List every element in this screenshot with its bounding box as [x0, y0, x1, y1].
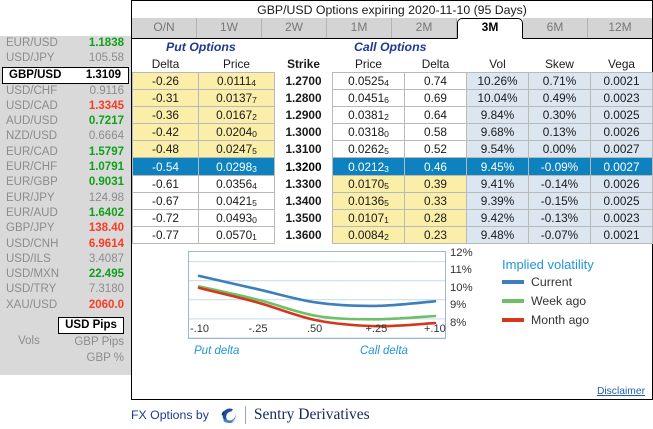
put-price: 0.02983 — [199, 158, 275, 175]
put-delta: -0.31 — [133, 90, 199, 107]
rate-pair: GBP/USD — [9, 68, 61, 83]
call-price-main: 0.0107 — [348, 211, 384, 225]
x-tick-3: +.25 — [366, 323, 388, 335]
rate-row-usd-chf[interactable]: USD/CHF0.9116 — [0, 84, 131, 99]
skew: -0.09% — [529, 158, 591, 175]
strike: 1.3500 — [275, 209, 333, 226]
rate-price: 2060.0 — [89, 298, 124, 313]
rate-row-aud-usd[interactable]: AUD/USD0.7217 — [0, 114, 131, 129]
call-price: 0.01071 — [333, 209, 405, 226]
call-price-main: 0.0136 — [348, 194, 384, 208]
tab-on[interactable]: O/N — [132, 18, 197, 38]
section-labels: Put Options Call Options — [132, 39, 652, 55]
call-price-sub: 1 — [384, 215, 389, 225]
vega: 0.0025 — [591, 192, 653, 209]
vol-unit-option-0[interactable]: USD Pips — [58, 317, 124, 334]
rate-pair: EUR/GBP — [6, 175, 58, 190]
rate-pair: USD/ILS — [6, 252, 51, 267]
tab-12m[interactable]: 12M — [588, 18, 652, 38]
rate-price: 124.98 — [89, 191, 124, 206]
skew: 0.30% — [529, 107, 591, 124]
call-price: 0.02123 — [333, 158, 405, 175]
strike: 1.3000 — [275, 124, 333, 141]
put-price-main: 0.0493 — [216, 211, 252, 225]
table-row[interactable]: -0.420.020401.30000.031800.589.68%0.13%0… — [133, 124, 653, 141]
call-delta: 0.33 — [405, 192, 467, 209]
call-price-main: 0.0525 — [348, 74, 384, 88]
rate-row-gbp-jpy[interactable]: GBP/JPY138.40 — [0, 221, 131, 236]
rate-row-eur-aud[interactable]: EUR/AUD1.6402 — [0, 206, 131, 221]
put-price-sub: 2 — [252, 112, 257, 122]
rate-price: 1.0791 — [89, 160, 124, 175]
col-header-delta-0: Delta — [133, 55, 199, 73]
fx-options-by-label: FX Options by — [131, 408, 209, 422]
skew: -0.14% — [529, 175, 591, 192]
call-delta: 0.74 — [405, 73, 467, 90]
legend-swatch-icon — [502, 280, 524, 283]
skew: 0.49% — [529, 90, 591, 107]
legend-item-1: Week ago — [502, 292, 594, 310]
call-price: 0.00842 — [333, 226, 405, 243]
legend-title: Implied volatility — [502, 257, 594, 272]
call-price-main: 0.0212 — [348, 160, 384, 174]
put-price: 0.02475 — [199, 141, 275, 158]
call-price: 0.04516 — [333, 90, 405, 107]
rate-pair: USD/CAD — [6, 99, 58, 114]
tab-3m[interactable]: 3M — [457, 18, 523, 39]
strike: 1.2700 — [275, 73, 333, 90]
call-price-main: 0.0451 — [348, 91, 384, 105]
rate-price: 6.9614 — [89, 237, 124, 252]
put-delta: -0.54 — [133, 158, 199, 175]
put-price-main: 0.0356 — [216, 177, 252, 191]
put-price: 0.01672 — [199, 107, 275, 124]
options-panel: GBP/USD Options expiring 2020-11-10 (95 … — [131, 0, 653, 400]
vol: 9.41% — [467, 175, 529, 192]
table-row[interactable]: -0.670.042151.34000.013650.339.39%-0.15%… — [133, 192, 653, 209]
put-price-sub: 7 — [252, 95, 257, 105]
rate-price: 0.6664 — [89, 129, 124, 144]
disclaimer-link[interactable]: Disclaimer — [597, 386, 645, 397]
tab-1w[interactable]: 1W — [197, 18, 262, 38]
call-options-label: Call Options — [354, 40, 426, 54]
vega: 0.0023 — [591, 209, 653, 226]
rate-row-eur-cad[interactable]: EUR/CAD1.5797 — [0, 145, 131, 160]
rate-row-usd-mxn[interactable]: USD/MXN22.495 — [0, 267, 131, 282]
call-delta: 0.39 — [405, 175, 467, 192]
put-price: 0.02040 — [199, 124, 275, 141]
call-price-sub: 5 — [384, 181, 389, 191]
put-delta: -0.48 — [133, 141, 199, 158]
vega: 0.0027 — [591, 141, 653, 158]
put-price-main: 0.0204 — [216, 125, 252, 139]
call-delta: 0.23 — [405, 226, 467, 243]
rate-price: 138.40 — [89, 221, 124, 236]
skew: 0.00% — [529, 141, 591, 158]
page-title: GBP/USD Options expiring 2020-11-10 (95 … — [132, 1, 652, 18]
rate-pair: USD/JPY — [6, 51, 55, 66]
rate-price: 7.3180 — [89, 282, 124, 297]
vol: 10.04% — [467, 90, 529, 107]
call-delta: 0.46 — [405, 158, 467, 175]
vol: 9.42% — [467, 209, 529, 226]
skew: 0.71% — [529, 73, 591, 90]
rate-row-usd-try[interactable]: USD/TRY7.3180 — [0, 282, 131, 297]
put-price-sub: 5 — [252, 198, 257, 208]
rate-price: 1.6402 — [89, 206, 124, 221]
rate-pair: USD/CHF — [6, 84, 57, 99]
vol: 9.54% — [467, 141, 529, 158]
x-tick-0: -.10 — [190, 323, 209, 335]
y-tick-3: 9% — [450, 297, 484, 314]
rate-pair: NZD/USD — [6, 129, 57, 144]
rate-row-usd-cad[interactable]: USD/CAD1.3345 — [0, 99, 131, 114]
skew: -0.13% — [529, 209, 591, 226]
chart-x-axis: -.10-.25.50+.25+.10 — [188, 323, 446, 337]
put-delta: -0.72 — [133, 209, 199, 226]
put-price-main: 0.0570 — [216, 228, 252, 242]
vega: 0.0026 — [591, 124, 653, 141]
put-price-sub: 3 — [252, 164, 257, 174]
col-header-delta-4: Delta — [405, 55, 467, 73]
put-price-sub: 0 — [252, 215, 257, 225]
strike: 1.3300 — [275, 175, 333, 192]
call-delta-axis-label: Call delta — [360, 345, 408, 357]
rate-pair: GBP/JPY — [6, 221, 55, 236]
table-body: -0.260.011141.27000.052540.7410.26%0.71%… — [133, 73, 653, 244]
put-price-main: 0.0167 — [216, 108, 252, 122]
put-price-main: 0.0111 — [217, 74, 251, 88]
tab-2m[interactable]: 2M — [392, 18, 457, 38]
skew: -0.15% — [529, 192, 591, 209]
call-price-sub: 4 — [384, 78, 389, 88]
call-price-sub: 6 — [384, 95, 389, 105]
legend-item-2: Month ago — [502, 311, 594, 329]
legend-rows: CurrentWeek agoMonth ago — [502, 273, 594, 329]
put-price: 0.05701 — [199, 226, 275, 243]
volatility-smile-chart: 12%11%10%9%8% -.10-.25.50+.25+.10 Put de… — [132, 251, 652, 371]
put-delta: -0.77 — [133, 226, 199, 243]
call-delta: 0.64 — [405, 107, 467, 124]
rate-pair: USD/TRY — [6, 282, 56, 297]
rate-row-gbp-usd[interactable]: GBP/USD1.3109 — [2, 67, 129, 84]
y-tick-0: 12% — [450, 245, 484, 262]
rates-sidebar: EUR/USD1.1838USD/JPY105.58GBP/USD1.3109U… — [0, 36, 131, 375]
put-price-main: 0.0421 — [216, 194, 252, 208]
call-price-main: 0.0318 — [348, 125, 384, 139]
vols-unit-selector: Vols USD PipsGBP PipsGBP % — [0, 317, 131, 366]
strike: 1.3400 — [275, 192, 333, 209]
table-row[interactable]: -0.610.035641.33000.017050.399.41%-0.14%… — [133, 175, 653, 192]
put-delta: -0.67 — [133, 192, 199, 209]
put-price-sub: 1 — [252, 232, 257, 242]
strike: 1.3200 — [275, 158, 333, 175]
vega: 0.0025 — [591, 107, 653, 124]
rate-row-eur-usd[interactable]: EUR/USD1.1838 — [0, 36, 131, 51]
rate-pair: USD/CNH — [6, 237, 58, 252]
table-row[interactable]: -0.540.029831.32000.021230.469.45%-0.09%… — [133, 158, 653, 175]
col-header-strike-2: Strike — [275, 55, 333, 73]
legend-swatch-icon — [502, 318, 524, 321]
put-price: 0.01114 — [199, 73, 275, 90]
rate-price: 1.3345 — [89, 99, 124, 114]
rate-row-eur-gbp[interactable]: EUR/GBP0.9031 — [0, 175, 131, 190]
x-tick-4: +.10 — [424, 323, 446, 335]
legend-item-0: Current — [502, 273, 594, 291]
call-delta: 0.58 — [405, 124, 467, 141]
rates-list: EUR/USD1.1838USD/JPY105.58GBP/USD1.3109U… — [0, 36, 131, 313]
rate-price: 1.3109 — [86, 68, 121, 83]
vol: 9.45% — [467, 158, 529, 175]
call-price: 0.05254 — [333, 73, 405, 90]
put-price-main: 0.0298 — [216, 160, 252, 174]
rate-price: 1.1838 — [89, 36, 124, 51]
call-price-sub: 2 — [384, 112, 389, 122]
rate-row-nzd-usd[interactable]: NZD/USD0.6664 — [0, 129, 131, 144]
table-row[interactable]: -0.310.013771.28000.045160.6910.04%0.49%… — [133, 90, 653, 107]
call-price-main: 0.0381 — [348, 108, 384, 122]
vols-options: USD PipsGBP PipsGBP % — [58, 317, 131, 366]
put-price: 0.03564 — [199, 175, 275, 192]
rate-price: 0.9031 — [89, 175, 124, 190]
rate-price: 3.4087 — [89, 252, 124, 267]
call-price-sub: 3 — [384, 164, 389, 174]
rate-pair: EUR/CAD — [6, 145, 58, 160]
table-row[interactable]: -0.260.011141.27000.052540.7410.26%0.71%… — [133, 73, 653, 90]
vol-unit-option-2[interactable]: GBP % — [58, 350, 124, 366]
rate-row-usd-jpy[interactable]: USD/JPY105.58 — [0, 51, 131, 66]
put-options-label: Put Options — [166, 40, 236, 54]
strike: 1.2900 — [275, 107, 333, 124]
rate-price: 0.7217 — [89, 114, 124, 129]
table-row[interactable]: -0.770.057011.36000.008420.239.48%-0.07%… — [133, 226, 653, 243]
rate-pair: EUR/CHF — [6, 160, 57, 175]
col-header-vol-5: Vol — [467, 55, 529, 73]
rate-row-usd-cnh[interactable]: USD/CNH6.9614 — [0, 237, 131, 252]
put-price-sub: 5 — [252, 146, 257, 156]
table-row[interactable]: -0.360.016721.29000.038120.649.84%0.30%0… — [133, 107, 653, 124]
legend-swatch-icon — [502, 299, 524, 302]
put-delta: -0.61 — [133, 175, 199, 192]
chart-y-axis: 12%11%10%9%8% — [450, 245, 484, 332]
tab-1m[interactable]: 1M — [327, 18, 392, 38]
call-price-sub: 2 — [384, 232, 389, 242]
rate-row-xau-usd[interactable]: XAU/USD2060.0 — [0, 298, 131, 313]
table-row[interactable]: -0.720.049301.35000.010710.289.42%-0.13%… — [133, 209, 653, 226]
vega: 0.0021 — [591, 73, 653, 90]
call-price: 0.03180 — [333, 124, 405, 141]
call-price-main: 0.0262 — [348, 142, 384, 156]
put-price-sub: 0 — [252, 129, 257, 139]
put-delta: -0.36 — [133, 107, 199, 124]
put-delta: -0.42 — [133, 124, 199, 141]
put-price-sub: 4 — [251, 78, 256, 88]
call-price-sub: 5 — [384, 198, 389, 208]
footer: FX Options by Sentry Derivatives — [131, 402, 653, 428]
call-delta: 0.52 — [405, 141, 467, 158]
strike: 1.3600 — [275, 226, 333, 243]
rate-row-eur-jpy[interactable]: EUR/JPY124.98 — [0, 191, 131, 206]
rate-pair: EUR/USD — [6, 36, 58, 51]
legend-label: Week ago — [531, 294, 586, 308]
brand-name: Sentry Derivatives — [245, 406, 370, 424]
vol: 9.84% — [467, 107, 529, 124]
options-table: DeltaPriceStrikePriceDeltaVolSkewVega -0… — [132, 55, 653, 244]
rate-pair: XAU/USD — [6, 298, 57, 313]
call-price: 0.01705 — [333, 175, 405, 192]
chart-legend: Implied volatility CurrentWeek agoMonth … — [502, 257, 594, 329]
vol-unit-option-1[interactable]: GBP Pips — [58, 334, 124, 350]
call-delta: 0.28 — [405, 209, 467, 226]
rate-pair: AUD/USD — [6, 114, 58, 129]
call-price: 0.03812 — [333, 107, 405, 124]
vol: 9.48% — [467, 226, 529, 243]
col-header-skew-6: Skew — [529, 55, 591, 73]
vol: 9.39% — [467, 192, 529, 209]
call-price-main: 0.0084 — [348, 228, 384, 242]
rate-row-eur-chf[interactable]: EUR/CHF1.0791 — [0, 160, 131, 175]
vega: 0.0023 — [591, 90, 653, 107]
x-tick-1: -.25 — [249, 323, 268, 335]
expiry-tabs[interactable]: O/N1W2W1M2M3M6M12M — [132, 18, 652, 39]
col-header-price-3: Price — [333, 55, 405, 73]
vega: 0.0027 — [591, 158, 653, 175]
col-header-vega-7: Vega — [591, 55, 653, 73]
sentry-logo-icon — [215, 406, 241, 424]
put-price-sub: 4 — [252, 181, 257, 191]
strike: 1.3100 — [275, 141, 333, 158]
legend-label: Month ago — [531, 313, 589, 327]
rate-pair: USD/MXN — [6, 267, 59, 282]
call-price-sub: 0 — [384, 129, 389, 139]
rate-pair: EUR/JPY — [6, 191, 55, 206]
skew: 0.13% — [529, 124, 591, 141]
y-tick-4: 8% — [450, 315, 484, 332]
call-delta: 0.69 — [405, 90, 467, 107]
put-price: 0.04215 — [199, 192, 275, 209]
call-price-main: 0.0170 — [348, 177, 384, 191]
vol: 9.68% — [467, 124, 529, 141]
table-row[interactable]: -0.480.024751.31000.026250.529.54%0.00%0… — [133, 141, 653, 158]
call-price-sub: 5 — [384, 146, 389, 156]
vega: 0.0021 — [591, 226, 653, 243]
rate-price: 22.495 — [89, 267, 124, 282]
put-delta: -0.26 — [133, 73, 199, 90]
put-price-main: 0.0137 — [216, 91, 252, 105]
tab-6m[interactable]: 6M — [523, 18, 588, 38]
put-price-main: 0.0247 — [216, 142, 252, 156]
tab-2w[interactable]: 2W — [262, 18, 327, 38]
vega: 0.0026 — [591, 175, 653, 192]
vol: 10.26% — [467, 73, 529, 90]
strike: 1.2800 — [275, 90, 333, 107]
rate-price: 1.5797 — [89, 145, 124, 160]
rate-pair: EUR/AUD — [6, 206, 58, 221]
vols-label: Vols — [0, 317, 58, 366]
y-tick-2: 10% — [450, 280, 484, 297]
call-price: 0.01365 — [333, 192, 405, 209]
legend-label: Current — [531, 275, 572, 289]
y-tick-1: 11% — [450, 262, 484, 279]
col-header-price-1: Price — [199, 55, 275, 73]
table-header-row: DeltaPriceStrikePriceDeltaVolSkewVega — [133, 55, 653, 73]
put-delta-axis-label: Put delta — [194, 345, 239, 357]
x-tick-2: .50 — [307, 323, 322, 335]
skew: -0.07% — [529, 226, 591, 243]
call-price: 0.02625 — [333, 141, 405, 158]
rate-row-usd-ils[interactable]: USD/ILS3.4087 — [0, 252, 131, 267]
rate-price: 0.9116 — [90, 84, 124, 99]
rate-price: 105.58 — [89, 51, 124, 66]
put-price: 0.04930 — [199, 209, 275, 226]
put-price: 0.01377 — [199, 90, 275, 107]
